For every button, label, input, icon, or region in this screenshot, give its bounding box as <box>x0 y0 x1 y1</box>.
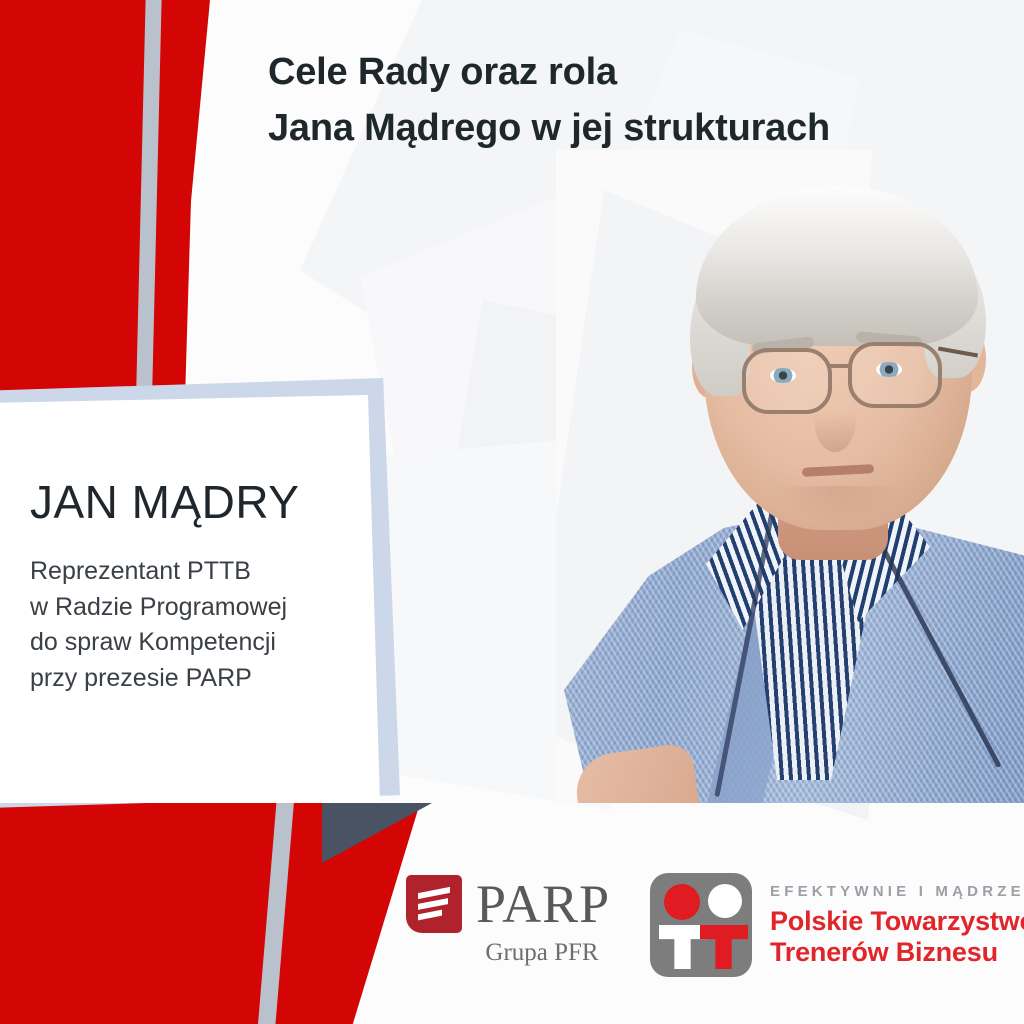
portrait-glasses-lens-right <box>848 342 942 408</box>
speaker-name: JAN MĄDRY <box>30 478 360 526</box>
portrait-chin-shadow <box>772 486 902 526</box>
pttb-figure-body-white <box>659 925 707 969</box>
slide-title: Cele Rady oraz rola Jana Mądrego w jej s… <box>268 44 1008 156</box>
parp-subtitle: Grupa PFR <box>468 939 616 967</box>
speaker-role: Reprezentant PTTB w Radzie Programowej d… <box>30 554 360 696</box>
footer-logo-bar: PARP Grupa PFR EFEKTYWNIE I MĄDRZE Polsk… <box>0 803 1024 1024</box>
portrait-glasses-bridge <box>830 364 852 368</box>
presentation-slide: Cele Rady oraz rola Jana Mądrego w jej s… <box>0 0 1024 1024</box>
speaker-portrait-photo <box>556 150 1024 803</box>
speaker-role-line-2: w Radzie Programowej <box>30 590 360 626</box>
parp-logo-row: PARP <box>406 875 616 933</box>
pttb-name-line-2: Trenerów Biznesu <box>770 937 1024 967</box>
parp-stripes-icon <box>406 875 462 933</box>
speaker-role-line-1: Reprezentant PTTB <box>30 554 360 590</box>
pttb-two-figures-icon <box>650 873 752 977</box>
speaker-card-content: JAN MĄDRY Reprezentant PTTB w Radzie Pro… <box>30 478 360 696</box>
pttb-tagline: EFEKTYWNIE I MĄDRZE <box>770 883 1024 900</box>
parp-wordmark: PARP <box>476 877 610 931</box>
pttb-figure-head-white <box>708 884 742 918</box>
parp-stripe-3 <box>418 910 442 921</box>
parp-stripe-2 <box>418 898 448 910</box>
parp-logo: PARP Grupa PFR <box>406 875 616 983</box>
slide-title-line-2: Jana Mądrego w jej strukturach <box>268 100 1008 156</box>
slide-title-line-1: Cele Rady oraz rola <box>268 44 1008 100</box>
pttb-figure-body-red <box>700 925 748 969</box>
speaker-role-line-3: do spraw Kompetencji <box>30 625 360 661</box>
pttb-logo-text: EFEKTYWNIE I MĄDRZE Polskie Towarzystwo … <box>770 883 1024 966</box>
speaker-role-line-4: przy prezesie PARP <box>30 661 360 697</box>
pttb-logo: EFEKTYWNIE I MĄDRZE Polskie Towarzystwo … <box>650 865 1020 985</box>
parp-stripe-1 <box>418 887 450 899</box>
pttb-figure-head-red <box>664 884 700 920</box>
portrait-nose <box>814 386 856 452</box>
pttb-name-line-1: Polskie Towarzystwo <box>770 906 1024 936</box>
